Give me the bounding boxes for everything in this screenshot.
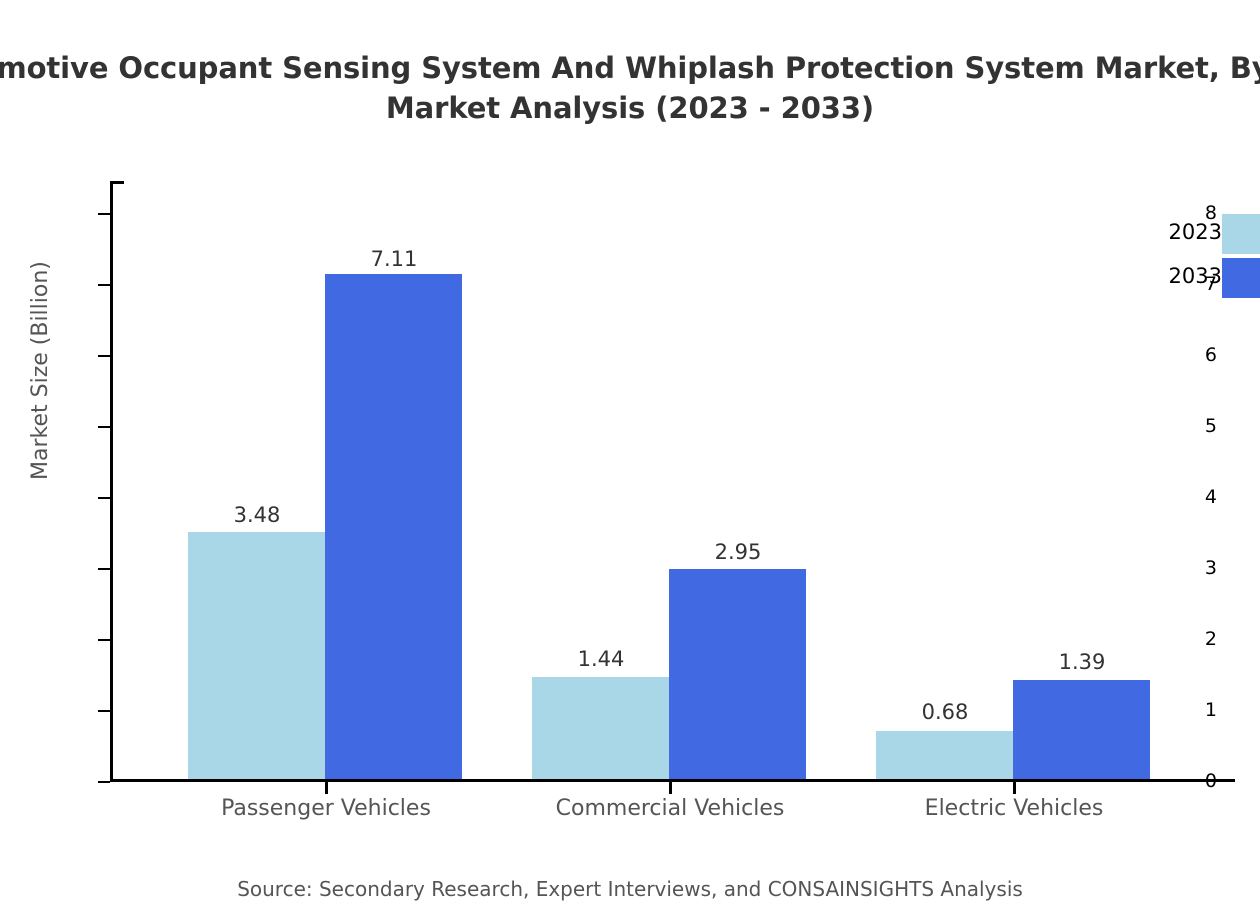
y-tick-label-5: 5: [1205, 415, 1217, 437]
x-tick-label-commercial-vehicles: Commercial Vehicles: [556, 796, 785, 821]
x-tick-label-electric-vehicles: Electric Vehicles: [925, 796, 1104, 821]
x-tick-mark-passenger-vehicles: [325, 781, 328, 794]
plot-area: 0 1 2 3 4 5 6 7 8 Passenger Vehicles Com…: [110, 181, 1235, 781]
y-tick-label-3: 3: [1205, 557, 1217, 579]
y-tick-mark-6: [98, 355, 110, 357]
y-tick-mark-8: [98, 213, 110, 215]
chart-figure: Automotive Occupant Sensing System And W…: [0, 0, 1260, 920]
legend-item-2033[interactable]: 2033: [1130, 258, 1260, 302]
y-tick-mark-7: [98, 284, 110, 286]
bar-value-commercial-vehicles-2023: 1.44: [578, 647, 625, 671]
y-axis-spine: [110, 181, 113, 781]
bar-value-passenger-vehicles-2033: 7.11: [371, 247, 418, 271]
chart-title-line-2: Market Analysis (2023 - 2033): [0, 88, 1260, 128]
y-tick-label-1: 1: [1205, 699, 1217, 721]
legend-swatch-2033: [1222, 258, 1260, 298]
y-tick-label-4: 4: [1205, 486, 1217, 508]
legend-label-2023: 2023: [1169, 220, 1222, 244]
y-tick-label-6: 6: [1205, 344, 1217, 366]
legend-label-2033: 2033: [1169, 264, 1222, 288]
y-tick-mark-5: [98, 426, 110, 428]
x-axis-spine: [110, 779, 1235, 782]
x-tick-mark-electric-vehicles: [1013, 781, 1016, 794]
y-axis-top-cap: [110, 181, 124, 184]
y-tick-mark-4: [98, 497, 110, 499]
y-tick-label-0: 0: [1205, 770, 1217, 792]
legend-swatch-2023: [1222, 214, 1260, 254]
chart-title-line-1: Automotive Occupant Sensing System And W…: [0, 48, 1260, 88]
bar-value-commercial-vehicles-2033: 2.95: [715, 540, 762, 564]
y-axis-title: Market Size (Billion): [28, 261, 53, 480]
y-tick-mark-3: [98, 568, 110, 570]
bar-value-electric-vehicles-2023: 0.68: [922, 700, 969, 724]
x-tick-label-passenger-vehicles: Passenger Vehicles: [221, 796, 431, 821]
bar-value-passenger-vehicles-2023: 3.48: [234, 503, 281, 527]
bar-commercial-vehicles-2033[interactable]: [669, 569, 806, 779]
bar-value-electric-vehicles-2033: 1.39: [1059, 650, 1106, 674]
x-tick-mark-commercial-vehicles: [669, 781, 672, 794]
bar-electric-vehicles-2033[interactable]: [1013, 680, 1150, 779]
bar-passenger-vehicles-2023[interactable]: [188, 532, 325, 779]
y-tick-mark-2: [98, 639, 110, 641]
y-tick-mark-1: [98, 710, 110, 712]
bar-commercial-vehicles-2023[interactable]: [532, 677, 669, 779]
chart-title: Automotive Occupant Sensing System And W…: [0, 48, 1260, 128]
legend-item-2023[interactable]: 2023: [1130, 214, 1260, 258]
bar-electric-vehicles-2023[interactable]: [876, 731, 1013, 779]
source-note: Source: Secondary Research, Expert Inter…: [0, 877, 1260, 901]
legend: 2023 2033: [1130, 214, 1260, 302]
y-tick-label-2: 2: [1205, 628, 1217, 650]
y-tick-mark-0: [98, 781, 110, 783]
bar-passenger-vehicles-2033[interactable]: [325, 274, 462, 779]
